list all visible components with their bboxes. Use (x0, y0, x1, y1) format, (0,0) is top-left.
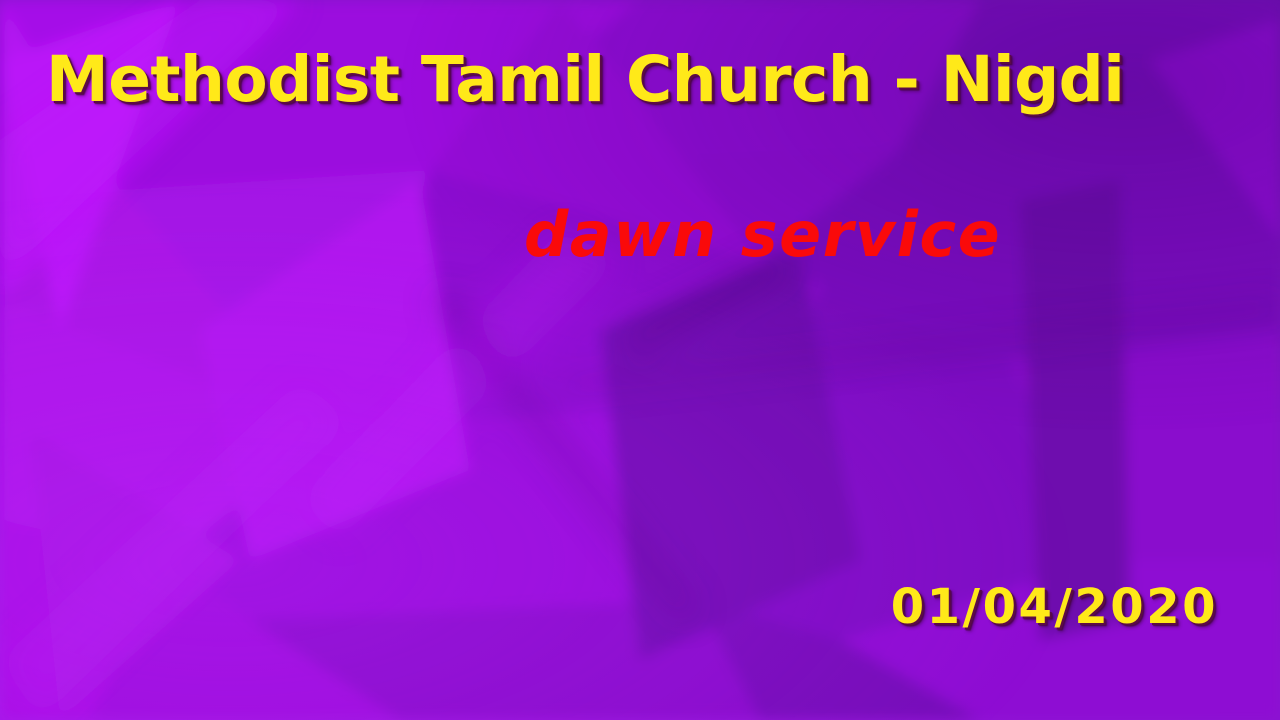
service-subtitle: dawn service (524, 204, 1001, 266)
title-card-slide: Methodist Tamil Church - Nigdi dawn serv… (0, 0, 1280, 720)
text-layer: Methodist Tamil Church - Nigdi dawn serv… (0, 0, 1280, 720)
church-title: Methodist Tamil Church - Nigdi (46, 47, 1124, 113)
service-date: 01/04/2020 (891, 583, 1218, 631)
